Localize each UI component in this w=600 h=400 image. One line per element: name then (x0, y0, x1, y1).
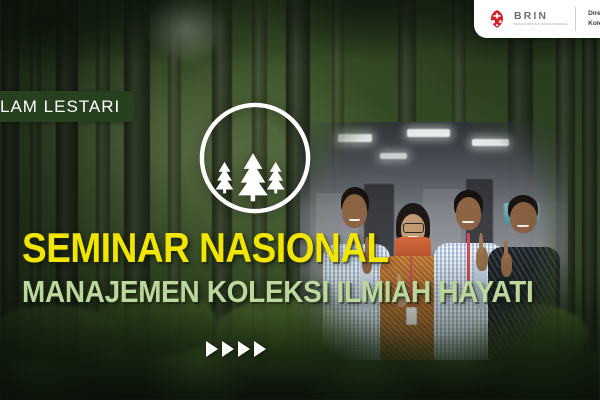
brin-logo-chip: BRIN BADAN RISET DAN INOVASI NASIONAL Di… (474, 0, 600, 38)
brin-wordmark-text: BRIN (514, 11, 568, 22)
chevron-right-icon (222, 341, 234, 357)
brin-wordmark-subtext: BADAN RISET DAN INOVASI NASIONAL (514, 23, 568, 27)
seminar-banner: BRIN BADAN RISET DAN INOVASI NASIONAL Di… (0, 0, 600, 400)
brin-logo-mark (487, 9, 507, 29)
chip-divider (575, 7, 576, 31)
alam-lestari-ribbon: LAM LESTARI (0, 91, 134, 122)
pine-trees-circle-emblem (196, 99, 314, 217)
page-subtitle: MANAJEMEN KOLEKSI ILMIAH HAYATI (22, 277, 542, 307)
chevron-right-icon (206, 341, 218, 357)
arrow-decoration (206, 341, 266, 357)
unit-name-line2: Koleksi Ilmia (588, 19, 600, 29)
ribbon-label: LAM LESTARI (0, 98, 120, 115)
headline-block: SEMINAR NASIONAL MANAJEMEN KOLEKSI ILMIA… (22, 228, 600, 308)
unit-name: Direktorat P Koleksi Ilmia (583, 9, 600, 29)
unit-name-line1: Direktorat P (588, 9, 600, 19)
chevron-right-icon (254, 341, 266, 357)
page-title: SEMINAR NASIONAL (22, 228, 531, 268)
brin-wordmark: BRIN BADAN RISET DAN INOVASI NASIONAL (514, 11, 568, 27)
chevron-right-icon (238, 341, 250, 357)
